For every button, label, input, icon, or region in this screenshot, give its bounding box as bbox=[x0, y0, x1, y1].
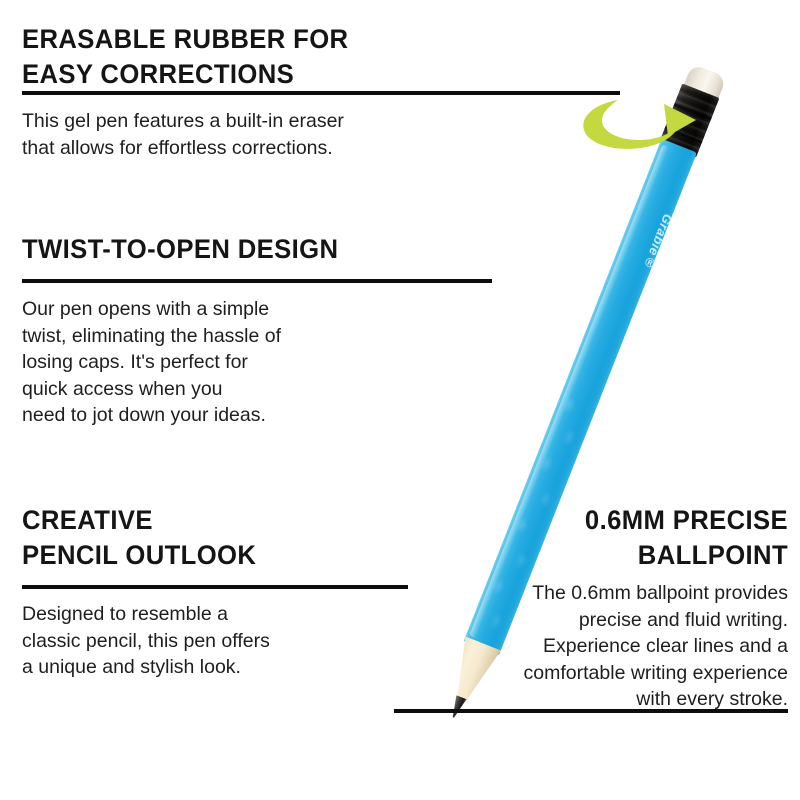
divider-rule-erasable bbox=[22, 91, 620, 95]
body-erasable-rubber: This gel pen features a built-in eraser … bbox=[22, 108, 442, 161]
divider-rule-creative bbox=[22, 585, 408, 589]
body-twist-to-open: Our pen opens with a simple twist, elimi… bbox=[22, 296, 362, 429]
divider-rule-twist bbox=[22, 279, 492, 283]
body-precise-ballpoint: The 0.6mm ballpoint provides precise and… bbox=[428, 580, 788, 713]
heading-creative-pencil-outlook: CREATIVE PENCIL OUTLOOK bbox=[22, 503, 393, 573]
heading-twist-to-open: TWIST-TO-OPEN DESIGN bbox=[22, 232, 469, 267]
heading-erasable-rubber: ERASABLE RUBBER FOR EASY CORRECTIONS bbox=[22, 22, 592, 92]
divider-rule-ballpoint bbox=[394, 709, 788, 713]
heading-precise-ballpoint: 0.6MM PRECISE BALLPOINT bbox=[475, 503, 789, 573]
body-creative-pencil-outlook: Designed to resemble a classic pencil, t… bbox=[22, 601, 352, 681]
infographic-canvas: Grabie® ERASABLE RUBBER FOR EASY CORRECT… bbox=[0, 0, 800, 800]
